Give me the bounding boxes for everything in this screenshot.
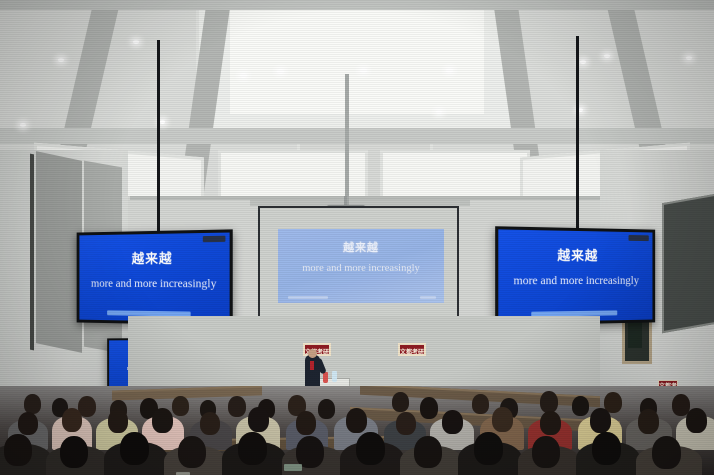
downlight (436, 110, 442, 114)
presenter-head (308, 349, 317, 358)
slide-english-line: more and more increasingly (79, 278, 229, 290)
ceiling-beam-top (0, 0, 714, 10)
audience-head-front (414, 436, 442, 468)
stage-back-wall (128, 316, 600, 394)
slide-english-line: more and more increasingly (278, 263, 444, 274)
audience-head (686, 408, 707, 433)
audience-head (396, 412, 416, 435)
ceiling-coffer-center-inner (230, 0, 484, 114)
audience-head (108, 409, 128, 433)
downlight (58, 58, 64, 62)
audience-head (228, 396, 246, 417)
screen-corner-badge-icon (203, 236, 226, 243)
ceiling-coffer-center (196, 0, 518, 132)
seated-student-audience (0, 386, 714, 475)
audience-head-front (532, 436, 560, 468)
audience-head-front (238, 432, 267, 465)
ceiling-beam-mid (0, 128, 714, 144)
left-tv-screen: 越来越 more and more increasingly (79, 233, 229, 323)
water-bottle-clear (332, 371, 337, 382)
audience-head-front (356, 432, 385, 465)
slide-chinese-title: 越来越 (79, 247, 229, 267)
water-bottle-red (323, 372, 328, 383)
downlight (604, 54, 610, 58)
audience-head (248, 407, 269, 432)
downlight (160, 120, 165, 124)
sign-text: 文都考研 (400, 347, 424, 356)
audience-head-front (652, 436, 681, 469)
downlight (580, 60, 586, 64)
audience-head (172, 396, 189, 416)
downlight (360, 68, 367, 73)
audience-head-front (178, 436, 206, 468)
screen-corner-badge-icon (628, 235, 648, 241)
audience-head-front (120, 432, 149, 465)
center-projection-screen[interactable]: 越来越 more and more increasingly (258, 206, 459, 328)
right-wall-mounted-tv[interactable]: 越来越 more and more increasingly (495, 226, 655, 326)
audience-head (18, 412, 38, 435)
projected-slide: 越来越 more and more increasingly (278, 229, 444, 303)
audience-head (492, 407, 513, 432)
audience-head (24, 394, 41, 414)
audience-head (638, 409, 659, 434)
audience-head (540, 391, 558, 413)
downlight (240, 73, 247, 78)
audience-head (318, 399, 335, 419)
slide-english-line: more and more increasingly (498, 275, 652, 287)
slide-chinese-title: 越来越 (278, 239, 444, 255)
audience-head (152, 408, 173, 433)
downlight (686, 56, 692, 60)
slide-chinese-title: 越来越 (498, 244, 652, 264)
audience-head-front (474, 432, 503, 465)
slide-taskbar-right (420, 296, 436, 299)
slide-taskbar-left (288, 296, 328, 299)
tv-mount-pole-left (157, 40, 160, 232)
stage-right-sign: 文都考研 (398, 343, 426, 356)
audience-head (392, 392, 409, 412)
acoustic-panel-left-a (36, 151, 82, 353)
audience-head-front (60, 436, 88, 468)
ceiling-coffer-near-cright (380, 150, 530, 200)
lecture-hall-photo: 越来越 more and more increasingly 越来越 more … (0, 0, 714, 475)
right-wall-dark-panel (662, 193, 714, 334)
projector-mount-pole (345, 74, 349, 206)
downlight (133, 40, 139, 44)
tv-mount-pole-right (576, 36, 579, 232)
right-tv-screen: 越来越 more and more increasingly (498, 229, 652, 322)
presenter-lanyard (310, 361, 314, 370)
audience-head (442, 410, 463, 434)
audience-head (472, 394, 489, 414)
downlight (277, 69, 284, 74)
audience-head (296, 411, 316, 435)
audience-head (62, 408, 82, 432)
audience-head (346, 408, 367, 433)
acoustic-panel-left-edge (30, 154, 34, 351)
downlight (20, 123, 26, 127)
audience-device-glow (284, 464, 302, 471)
audience-head-front (4, 434, 32, 466)
audience-head (200, 412, 220, 435)
audience-head-front (592, 432, 621, 465)
audience-head (540, 411, 561, 435)
downlight (446, 68, 453, 73)
audience-head (590, 408, 611, 433)
left-wall-mounted-tv[interactable]: 越来越 more and more increasingly (77, 229, 233, 325)
audience-head (572, 396, 589, 416)
audience-head (420, 397, 438, 419)
